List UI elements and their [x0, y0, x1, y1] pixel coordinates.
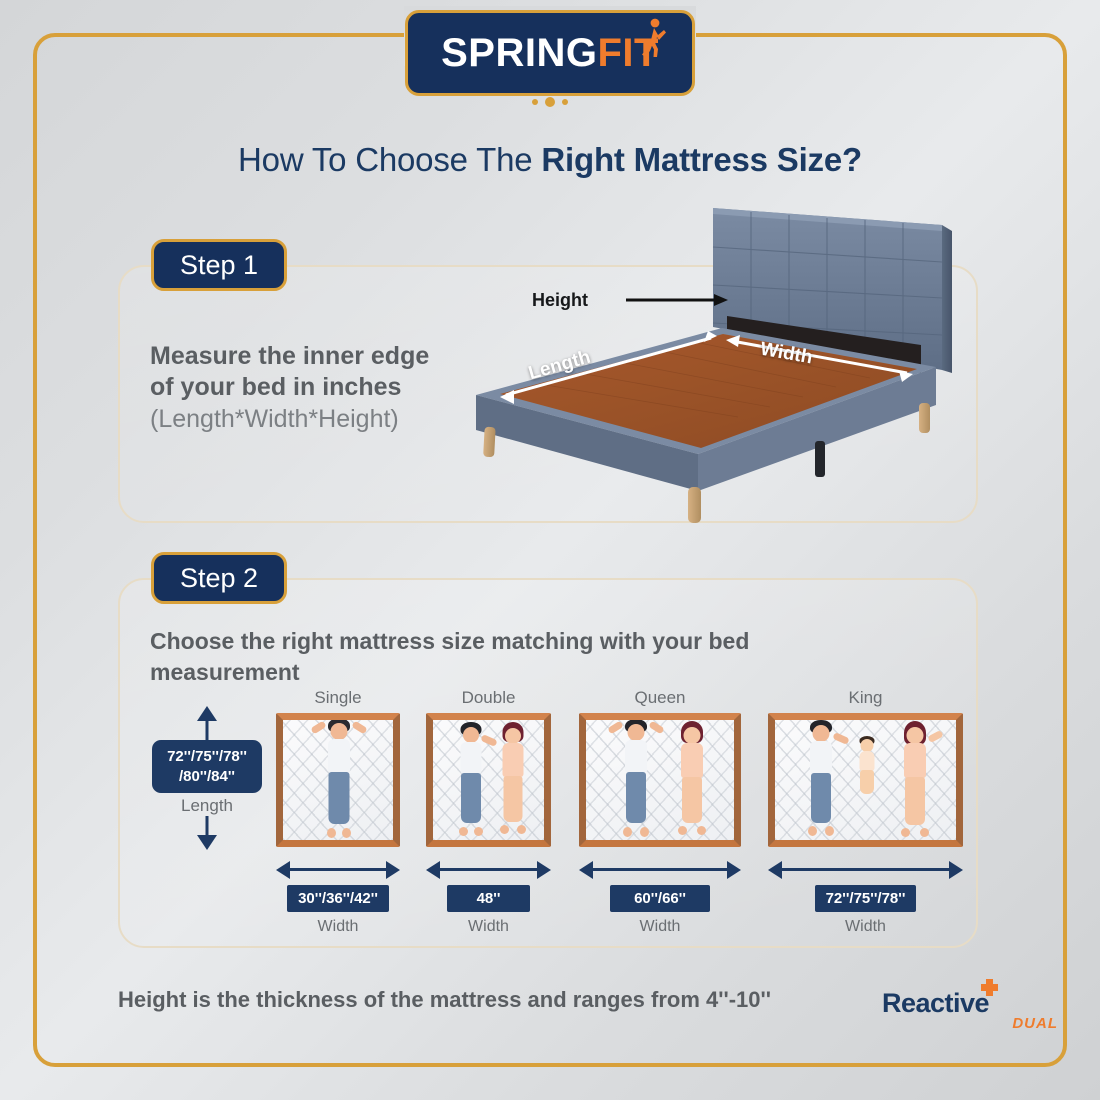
step1-badge: Step 1: [151, 239, 287, 291]
brand-header: SPRINGFIT: [0, 10, 1100, 96]
size-name-queen: Queen: [579, 688, 741, 708]
step1-instructions: Measure the inner edge of your bed in in…: [150, 341, 480, 435]
width-arrow-double-icon: [426, 859, 551, 881]
length-arrow-up-icon: [152, 706, 262, 740]
person-figure: [675, 721, 709, 833]
mattress-illustration-double: [426, 713, 551, 847]
size-column-queen[interactable]: Queen: [579, 688, 741, 936]
mattress-illustration-queen: [579, 713, 741, 847]
running-figure-icon: [641, 18, 667, 58]
brand-logo-secondary: FIT: [597, 31, 658, 75]
bed-illustration: Length Width Height: [470, 195, 970, 535]
length-measurement-group: 72''/75''/78'' /80''/84'' Length: [152, 706, 262, 850]
brand-logo-box: SPRINGFIT: [405, 10, 695, 96]
footer-note: Height is the thickness of the mattress …: [118, 987, 771, 1013]
size-column-single[interactable]: Single 30''/36''/42'' Width: [276, 688, 400, 936]
size-column-double[interactable]: Double: [426, 688, 551, 936]
mattress-illustration-single: [276, 713, 400, 847]
brand-logo-text: SPRINGFIT: [441, 33, 659, 73]
width-value-king: 72''/75''/78'': [815, 885, 917, 912]
bed-label-height: Height: [532, 290, 588, 311]
step1-line1: Measure the inner edge: [150, 341, 480, 372]
width-value-single: 30''/36''/42'': [287, 885, 389, 912]
size-column-king[interactable]: King: [768, 688, 963, 936]
width-label-king: Width: [768, 918, 963, 936]
width-value-double: 48'': [447, 885, 531, 912]
page-title-bold: Right Mattress Size?: [541, 141, 862, 178]
length-label: Length: [152, 796, 262, 816]
step1-line2: of your bed in inches: [150, 372, 480, 403]
size-name-king: King: [768, 688, 963, 708]
step1-line3: (Length*Width*Height): [150, 404, 480, 435]
person-figure: [619, 719, 653, 835]
width-label-single: Width: [276, 918, 400, 936]
height-pointer-arrow: [626, 294, 728, 306]
mattress-illustration-king: [768, 713, 963, 847]
person-figure: [497, 722, 529, 832]
reactive-logo-text: Reactive: [882, 988, 989, 1018]
child-figure: [856, 736, 878, 798]
width-arrow-single-icon: [276, 859, 400, 881]
length-value-line1: 72''/75''/78'': [160, 747, 254, 767]
person-figure: [804, 720, 838, 834]
length-value-badge: 72''/75''/78'' /80''/84'': [152, 740, 262, 793]
step2-badge: Step 2: [151, 552, 287, 604]
width-arrow-queen-icon: [579, 859, 741, 881]
decorative-dots: [0, 99, 1100, 107]
step2-description: Choose the right mattress size matching …: [150, 626, 870, 688]
length-arrow-down-icon: [152, 816, 262, 850]
length-value-line2: /80''/84'': [160, 767, 254, 787]
brand-logo-primary: SPRING: [441, 31, 597, 75]
reactive-logo-main: Reactive: [882, 990, 1062, 1017]
size-name-double: Double: [426, 688, 551, 708]
page-title-regular: How To Choose The: [238, 141, 541, 178]
width-value-queen: 60''/66'': [610, 885, 710, 912]
width-arrow-king-icon: [768, 859, 963, 881]
width-label-queen: Width: [579, 918, 741, 936]
person-figure: [322, 718, 356, 836]
person-figure: [455, 722, 487, 834]
reactive-dual-logo: Reactive DUAL: [882, 990, 1062, 1040]
page-title: How To Choose The Right Mattress Size?: [0, 141, 1100, 179]
person-figure: [898, 721, 932, 835]
mattress-sizes-row: Single 30''/36''/42'' Width Double: [276, 688, 966, 938]
size-name-single: Single: [276, 688, 400, 708]
plus-cross-icon: [981, 979, 998, 996]
width-label-double: Width: [426, 918, 551, 936]
